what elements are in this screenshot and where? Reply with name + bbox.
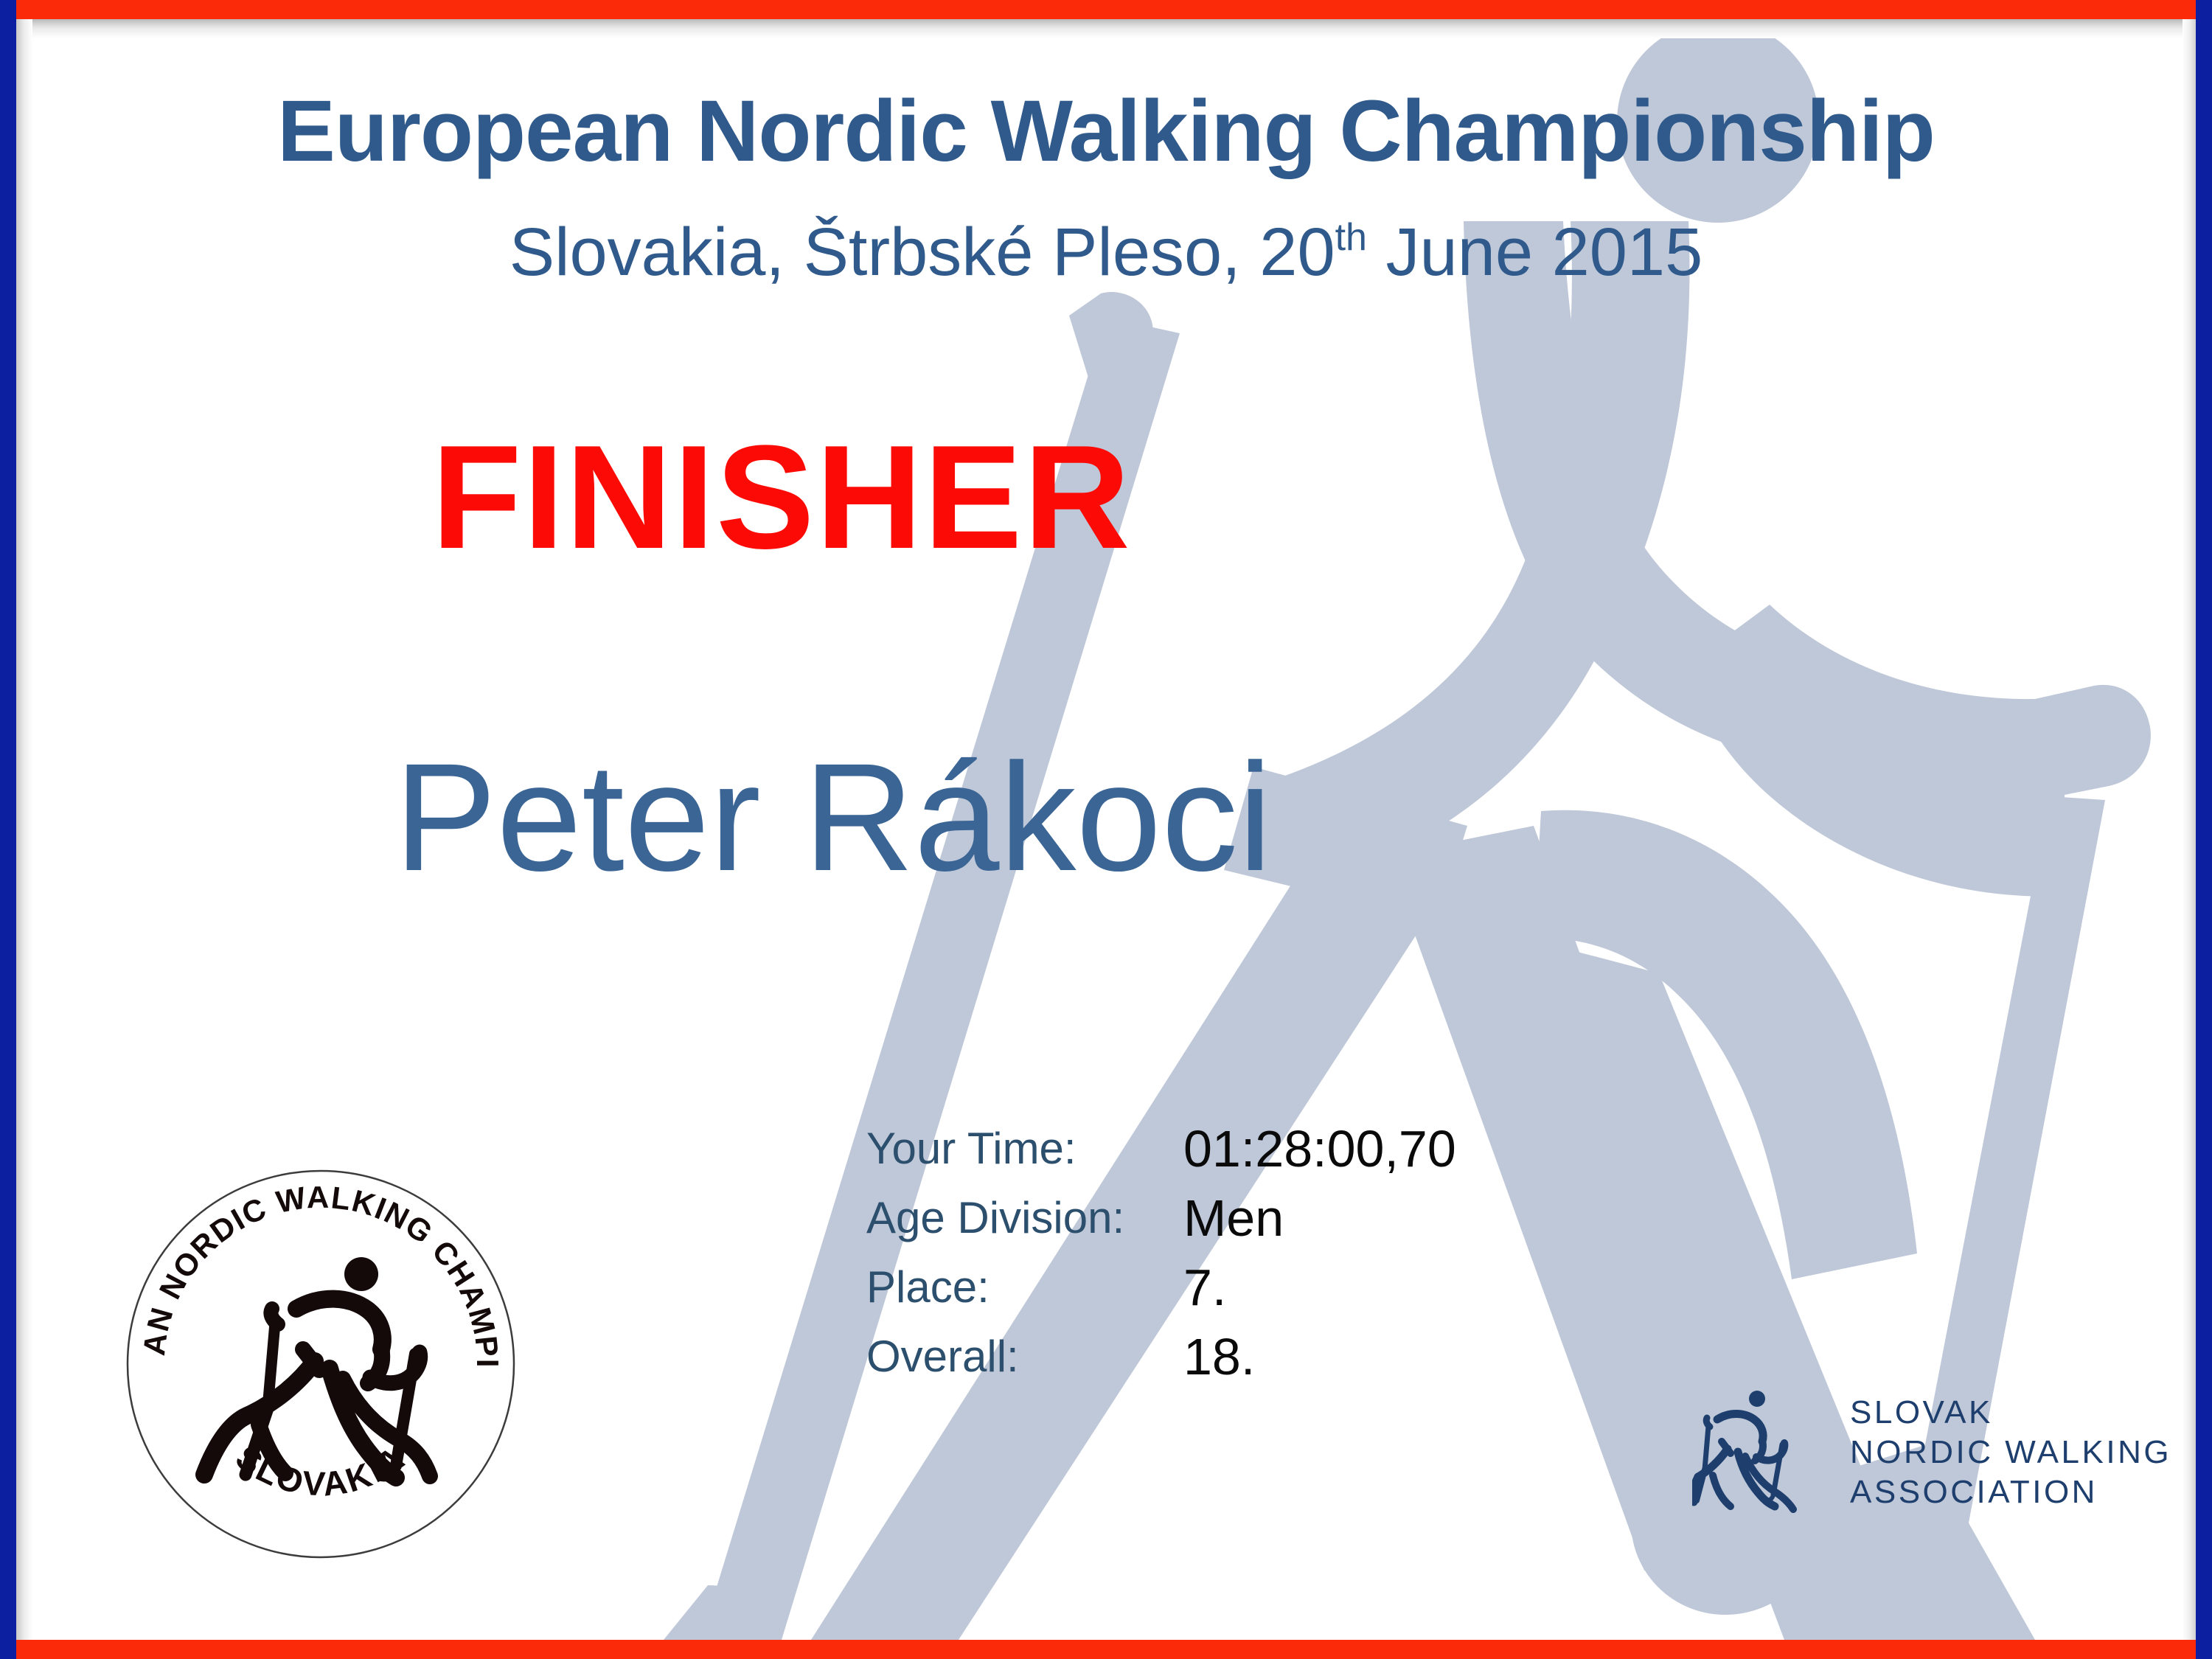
- result-value-overall: 18.: [1183, 1325, 1456, 1388]
- event-location-date-prefix: Slovakia, Štrbské Pleso, 20: [509, 215, 1335, 290]
- date-ordinal-suffix: th: [1335, 216, 1367, 259]
- result-value-age-division: Men: [1183, 1186, 1456, 1250]
- event-location-date: Slovakia, Štrbské Pleso, 20th June 2015: [0, 214, 2212, 291]
- association-line-3: ASSOCIATION: [1850, 1475, 2171, 1509]
- association-nordic-walker-icon: [1692, 1382, 1825, 1523]
- association-logo: SLOVAK NORDIC WALKING ASSOCIATION: [1692, 1360, 2149, 1545]
- page-title: European Nordic Walking Championship: [0, 81, 2212, 181]
- result-value-place: 7.: [1183, 1256, 1456, 1319]
- frame-inner-shadow-right: [2183, 19, 2196, 1640]
- frame-bar-right: [2196, 0, 2212, 1659]
- frame-inner-shadow-top: [16, 19, 2196, 38]
- association-line-1: SLOVAK: [1850, 1396, 2171, 1430]
- championship-badge-logo: EUROPEAN NORDIC WALKING CHAMPIONSHIP SLO…: [122, 1165, 520, 1563]
- frame-bar-left: [0, 0, 16, 1659]
- award-label: FINISHER: [0, 413, 1563, 582]
- results-table: Your Time: 01:28:00,70 Age Division: Men…: [866, 1117, 1456, 1388]
- association-logo-text: SLOVAK NORDIC WALKING ASSOCIATION: [1850, 1396, 2171, 1510]
- athlete-name: Peter Rákoci: [0, 730, 1666, 906]
- result-label-overall: Overall:: [866, 1325, 1183, 1388]
- frame-bar-top: [0, 0, 2212, 19]
- result-label-place: Place:: [866, 1256, 1183, 1319]
- frame-inner-shadow-left: [16, 19, 32, 1640]
- result-value-your-time: 01:28:00,70: [1183, 1117, 1456, 1180]
- certificate-canvas: European Nordic Walking Championship Slo…: [0, 0, 2212, 1659]
- result-label-age-division: Age Division:: [866, 1186, 1183, 1250]
- result-label-your-time: Your Time:: [866, 1117, 1183, 1180]
- event-location-date-suffix: June 2015: [1367, 215, 1703, 290]
- association-line-2: NORDIC WALKING: [1850, 1436, 2171, 1470]
- frame-bar-bottom: [0, 1640, 2212, 1659]
